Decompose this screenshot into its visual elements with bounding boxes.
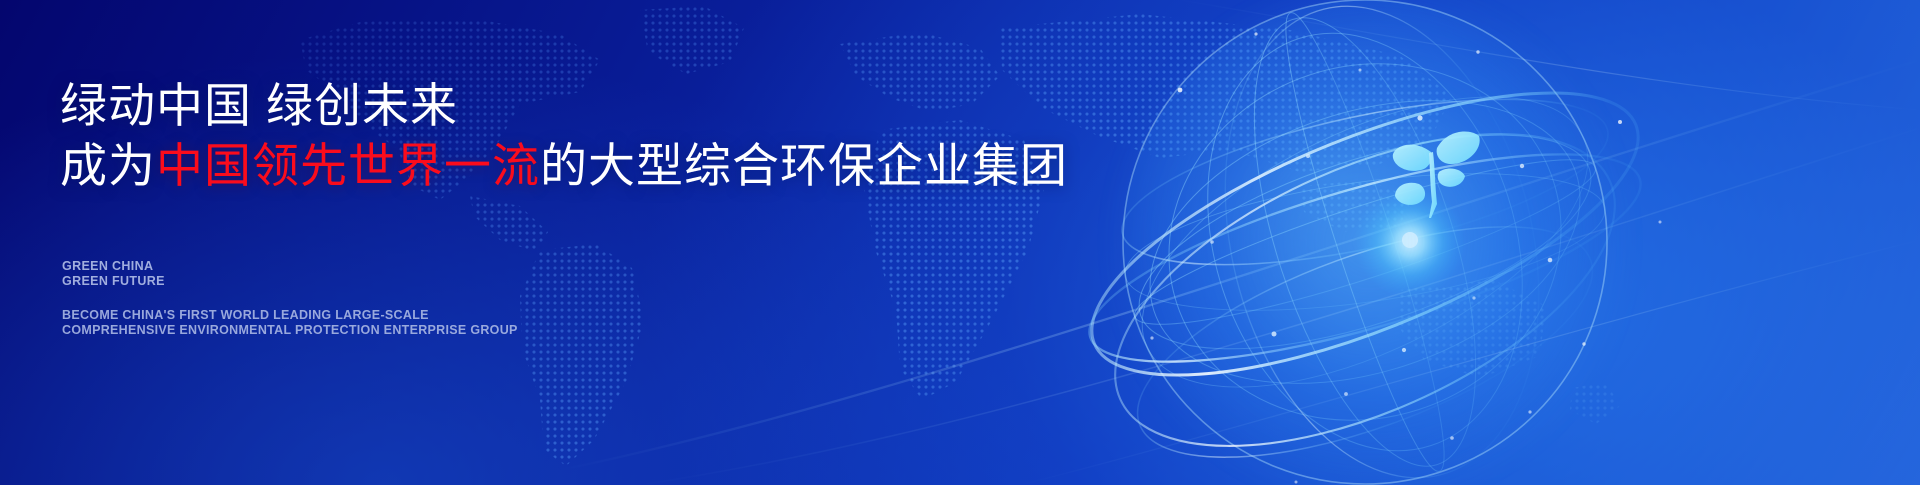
headline-line-1: 绿动中国 绿创未来 bbox=[60, 79, 458, 132]
headline-line-2: 成为中国领先世界一流的大型综合环保企业集团 bbox=[60, 136, 1068, 196]
wireframe-globe bbox=[1060, 0, 1680, 485]
headline-line-2-highlight: 中国领先世界一流 bbox=[156, 139, 540, 192]
promo-banner: 绿动中国 绿创未来 成为中国领先世界一流的大型综合环保企业集团 GREEN CH… bbox=[0, 0, 1920, 485]
description-english: BECOME CHINA'S FIRST WORLD LEADING LARGE… bbox=[62, 308, 518, 337]
banner-copy: 绿动中国 绿创未来 成为中国领先世界一流的大型综合环保企业集团 GREEN CH… bbox=[60, 0, 1060, 485]
headline-line-2-prefix: 成为 bbox=[60, 139, 156, 192]
slogan-english-line-1: GREEN CHINA bbox=[62, 259, 165, 274]
slogan-english: GREEN CHINA GREEN FUTURE bbox=[62, 259, 165, 288]
globe-glow bbox=[1100, 0, 1640, 485]
headline-line-2-suffix: 的大型综合环保企业集团 bbox=[540, 139, 1068, 192]
headline: 绿动中国 绿创未来 成为中国领先世界一流的大型综合环保企业集团 bbox=[60, 76, 1068, 196]
description-english-line-2: COMPREHENSIVE ENVIRONMENTAL PROTECTION E… bbox=[62, 323, 518, 338]
sprout-leaf-icon bbox=[1385, 122, 1490, 222]
slogan-english-line-2: GREEN FUTURE bbox=[62, 274, 165, 289]
globe-svg bbox=[1060, 0, 1680, 485]
description-english-line-1: BECOME CHINA'S FIRST WORLD LEADING LARGE… bbox=[62, 308, 518, 323]
